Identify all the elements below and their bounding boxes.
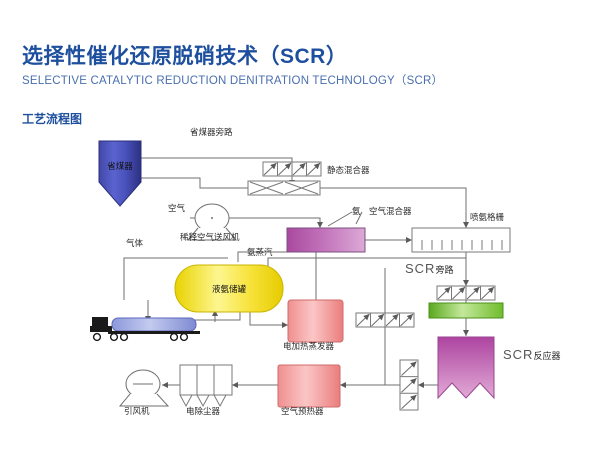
- label-dilution-air-fan: 稀释空气送风机: [180, 234, 240, 243]
- equipment-economizer[interactable]: 省煤器: [99, 141, 141, 206]
- label-economizer-bypass: 省煤器旁路: [190, 129, 233, 138]
- equipment-scr-reactor[interactable]: [438, 337, 494, 398]
- label-air: 空气: [168, 205, 185, 214]
- equipment-induced-draft-fan[interactable]: [120, 370, 168, 406]
- label-air-mixer: 空气混合器: [369, 208, 412, 217]
- label-esp: 电除尘器: [186, 408, 220, 417]
- equipment-catalyst-layer[interactable]: [429, 303, 503, 318]
- scr-reactor-en: SCR: [503, 347, 533, 362]
- equipment-liquid-ammonia-tank[interactable]: 液氨储罐: [175, 265, 283, 312]
- label-air-preheater: 空气预热器: [281, 408, 324, 417]
- label-scr-bypass: SCR旁路: [405, 262, 453, 275]
- equipment-air-preheater[interactable]: [278, 365, 340, 407]
- pipe-economizer-bypass: [141, 158, 292, 162]
- equipment-tanker-truck[interactable]: [90, 317, 200, 340]
- label-gas: 气体: [126, 240, 143, 249]
- damper-economizer-bypass[interactable]: [263, 162, 321, 176]
- pipe-tank-to-evaporator: [250, 312, 288, 325]
- process-flow-diagram: 省煤器: [0, 0, 600, 450]
- pipe-truck-line: [195, 312, 240, 320]
- label-ammonia: 氨: [352, 208, 361, 217]
- label-ammonia-injection-grid: 喷氨格栅: [470, 214, 504, 223]
- equipment-electrostatic-precipitator[interactable]: [180, 365, 232, 406]
- pipe-economizer-outlet: [141, 178, 248, 188]
- damper-bypass-lower[interactable]: [356, 313, 414, 327]
- equipment-ammonia-injection-grid[interactable]: [412, 228, 510, 252]
- damper-reactor-outlet[interactable]: [400, 360, 418, 410]
- equipment-electric-evaporator[interactable]: [288, 300, 343, 342]
- label-ammonia-vapor: 氨蒸汽: [247, 249, 273, 258]
- ammonia-tank-label: 液氨储罐: [212, 284, 247, 295]
- economizer-label: 省煤器: [107, 161, 133, 172]
- label-scr-reactor: SCR反应器: [503, 348, 560, 361]
- scr-bypass-en: SCR: [405, 261, 435, 276]
- label-static-mixer: 静态混合器: [327, 167, 370, 176]
- label-induced-draft-fan: 引风机: [124, 408, 150, 417]
- pipe-blower-discharge: [228, 218, 320, 222]
- label-electric-evaporator: 电加热蒸发器: [283, 343, 334, 352]
- scr-reactor-cn: 反应器: [533, 351, 560, 361]
- equipment-static-mixer[interactable]: [248, 181, 320, 195]
- damper-scr-bypass[interactable]: [437, 286, 495, 300]
- scr-bypass-cn: 旁路: [435, 265, 453, 275]
- slide-page: 选择性催化还原脱硝技术（SCR） SELECTIVE CATALYTIC RED…: [0, 0, 600, 450]
